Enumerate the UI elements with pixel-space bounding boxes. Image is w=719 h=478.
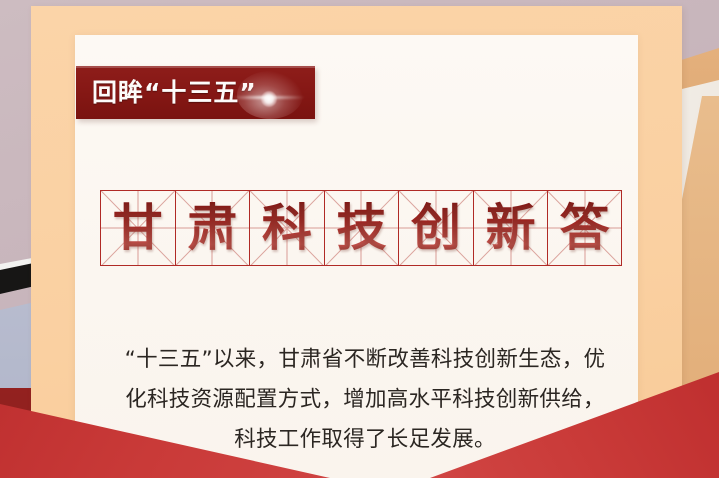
- title-character: 答: [548, 191, 621, 265]
- title-character: 科: [250, 191, 324, 265]
- title-grid-cell: 技: [324, 190, 399, 266]
- title-grid-cell: 新: [473, 190, 548, 266]
- title-grid-cell: 创: [398, 190, 473, 266]
- banner-label: 回眸“十三五”: [76, 80, 257, 105]
- title-character: 技: [325, 191, 399, 265]
- title-character: 创: [399, 191, 473, 265]
- title-grid-cell: 甘: [100, 190, 175, 266]
- title-character: 肃: [176, 191, 250, 265]
- poster-canvas: 回眸“十三五” 甘 肃 科 技 创: [0, 0, 719, 478]
- title-grid-cell: 肃: [175, 190, 250, 266]
- body-paragraph: “十三五”以来，甘肃省不断改善科技创新生态，优化科技资源配置方式，增加高水平科技…: [118, 340, 612, 460]
- section-banner: 回眸“十三五”: [76, 66, 315, 119]
- title-grid-cell: 科: [249, 190, 324, 266]
- title-character-grid: 甘 肃 科 技 创 新 答: [100, 190, 622, 266]
- title-grid-cell: 答: [547, 190, 622, 266]
- title-character: 甘: [101, 191, 175, 265]
- title-character: 新: [474, 191, 548, 265]
